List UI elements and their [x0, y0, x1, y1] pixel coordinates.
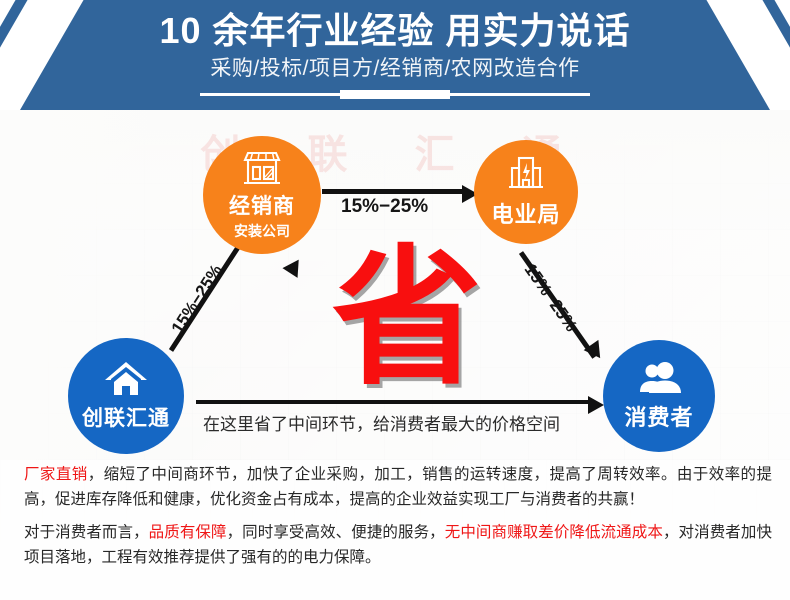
- node-bureau-label: 电业局: [491, 197, 560, 229]
- footer-p2-middle: ，同时享受高效、便捷的服务，: [227, 524, 445, 541]
- node-bureau[interactable]: 电业局: [474, 140, 578, 244]
- footer-paragraph-2: 对于消费者而言，品质有保障，同时享受高效、便捷的服务，无中间商赚取差价降低流通成…: [24, 520, 772, 570]
- header-subtitle: 采购/投标/项目方/经销商/农网改造合作: [0, 56, 790, 82]
- arrow-factory-to-consumer-head: [588, 396, 604, 414]
- header-divider-right: [450, 93, 590, 96]
- arrow-dealer-to-bureau-line: [322, 189, 468, 194]
- node-factory-label: 创联汇通: [82, 402, 170, 432]
- promo-banner: 10 余年行业经验 用实力说话 采购/投标/项目方/经销商/农网改造合作 创 联…: [0, 0, 790, 600]
- arrow-label-factory-to-consumer: 在这里省了中间环节，给消费者最大的价格空间: [203, 410, 560, 435]
- footer-paragraph-1: 厂家直销，缩短了中间商环节，加快了企业采购，加工，销售的运转速度，提高了周转效率…: [24, 462, 772, 512]
- footer-p1-body: ，缩短了中间商环节，加快了企业采购，加工，销售的运转速度，提高了周转效率。由于效…: [24, 466, 772, 508]
- arrow-label-dealer-to-bureau: 15%−25%: [341, 196, 428, 218]
- footer-p2-highlight-1: 品质有保障: [149, 524, 227, 541]
- shop-icon: [241, 149, 283, 187]
- node-consumer[interactable]: 消费者: [603, 340, 715, 452]
- users-icon: [636, 361, 682, 397]
- node-factory[interactable]: 创联汇通: [68, 338, 184, 454]
- header-title: 10 余年行业经验 用实力说话: [0, 9, 790, 53]
- footer-p1-highlight: 厂家直销: [24, 466, 88, 483]
- header-divider-center: [340, 90, 450, 99]
- header-divider: [0, 88, 790, 100]
- node-consumer-label: 消费者: [624, 400, 693, 432]
- brand-watermark: 创 联 汇 通: [0, 122, 790, 180]
- node-dealer[interactable]: 经销商 安装公司: [203, 136, 321, 254]
- node-dealer-label: 经销商: [229, 190, 295, 220]
- arrow-factory-to-consumer-line: [196, 400, 594, 404]
- save-glyph: 省: [332, 243, 462, 393]
- node-dealer-sublabel: 安装公司: [234, 221, 290, 241]
- footer-p2-highlight-2: 无中间商赚取差价降低流通成本: [445, 524, 663, 541]
- home-icon: [104, 360, 148, 398]
- header-banner: 10 余年行业经验 用实力说话 采购/投标/项目方/经销商/农网改造合作: [0, 0, 790, 110]
- footer-p2-lead: 对于消费者而言，: [24, 524, 149, 541]
- power-building-icon: [506, 155, 546, 193]
- header-divider-left: [200, 93, 340, 96]
